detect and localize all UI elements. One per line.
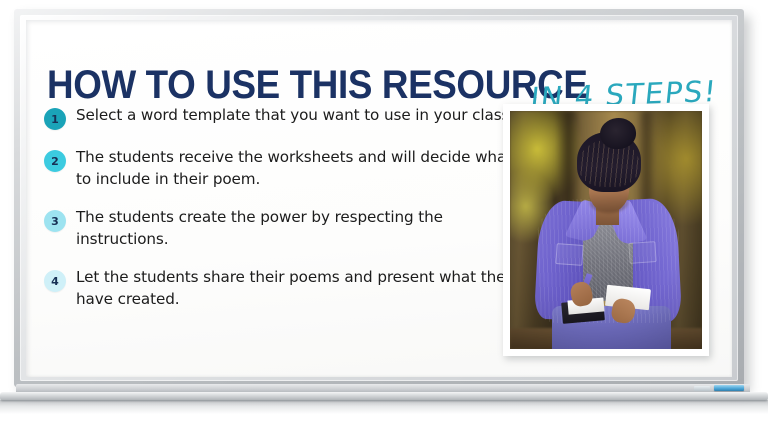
- step-text-2: The students receive the worksheets and …: [76, 147, 516, 190]
- step-text-3: The students create the power by respect…: [76, 207, 516, 250]
- list-item: 1 Select a word template that you want t…: [44, 105, 524, 130]
- step-number-badge-2: 2: [44, 150, 66, 172]
- step-text-1: Select a word template that you want to …: [76, 105, 514, 127]
- step-text-4: Let the students share their poems and p…: [76, 267, 516, 310]
- tray-shadow: [0, 400, 768, 414]
- page-title: HOW TO USE THIS RESOURCE: [47, 65, 588, 105]
- photo-pocket-left: [555, 243, 583, 266]
- eraser-icon: [694, 386, 710, 391]
- step-number-badge-3: 3: [44, 210, 66, 232]
- step-number-badge-4: 4: [44, 270, 66, 292]
- list-item: 4 Let the students share their poems and…: [44, 267, 524, 310]
- list-item: 2 The students receive the worksheets an…: [44, 147, 524, 190]
- marker-icon: [714, 385, 744, 391]
- steps-list: 1 Select a word template that you want t…: [44, 105, 524, 310]
- photo-student-writing: [510, 111, 702, 349]
- whiteboard-pen-tray: [0, 384, 768, 414]
- photo-pocket-right: [628, 241, 656, 264]
- slide-canvas: HOW TO USE THIS RESOURCE IN 4 STEPS! 1 S…: [0, 0, 768, 432]
- list-item: 3 The students create the power by respe…: [44, 207, 524, 250]
- step-number-badge-1: 1: [44, 108, 66, 130]
- photo-card: [503, 104, 709, 356]
